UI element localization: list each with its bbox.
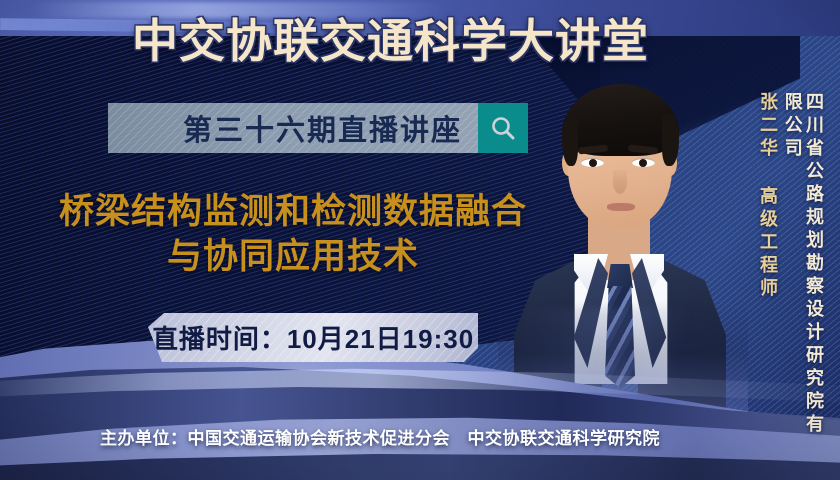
portrait-nose — [613, 170, 627, 194]
page-title: 中交协联交通科学大讲堂 — [132, 18, 712, 64]
portrait-shoulder-shine — [518, 308, 720, 408]
portrait-tie-knot — [607, 264, 633, 288]
portrait-hair-side-right — [662, 114, 679, 166]
search-button[interactable] — [478, 103, 528, 153]
portrait-hair-side-left — [562, 114, 578, 166]
subtitle-bar: 第三十六期直播讲座 — [108, 103, 478, 153]
live-time-badge: 直播时间：10月21日19:30 — [148, 313, 478, 362]
webinar-poster: 中交协联交通科学大讲堂 第三十六期直播讲座 桥梁结构监测和检测数据融合 与协同应… — [0, 0, 840, 480]
live-time-label: 直播时间：10月21日19:30 — [152, 319, 474, 356]
speaker-name-title: 张二华 高级工程师 — [757, 92, 778, 322]
lecture-topic: 桥梁结构监测和检测数据融合 与协同应用技术 — [48, 190, 538, 280]
subtitle-banner: 第三十六期直播讲座 — [108, 103, 528, 153]
organizer-footer: 主办单位：中国交通运输协会新技术促进分会 中交协联交通科学研究院 — [0, 424, 760, 449]
lecture-topic-line-2: 与协同应用技术 — [48, 235, 538, 280]
portrait-mouth — [607, 203, 635, 211]
lecture-topic-line-1: 桥梁结构监测和检测数据融合 — [48, 190, 538, 235]
subtitle-label: 第三十六期直播讲座 — [183, 107, 462, 149]
speaker-portrait — [512, 58, 726, 408]
portrait-pupil-right — [639, 159, 647, 167]
search-icon — [488, 113, 518, 143]
speaker-organization: 四川省公路规划勘察设计研究院有限公司 — [782, 92, 824, 442]
portrait-pupil-left — [589, 159, 597, 167]
